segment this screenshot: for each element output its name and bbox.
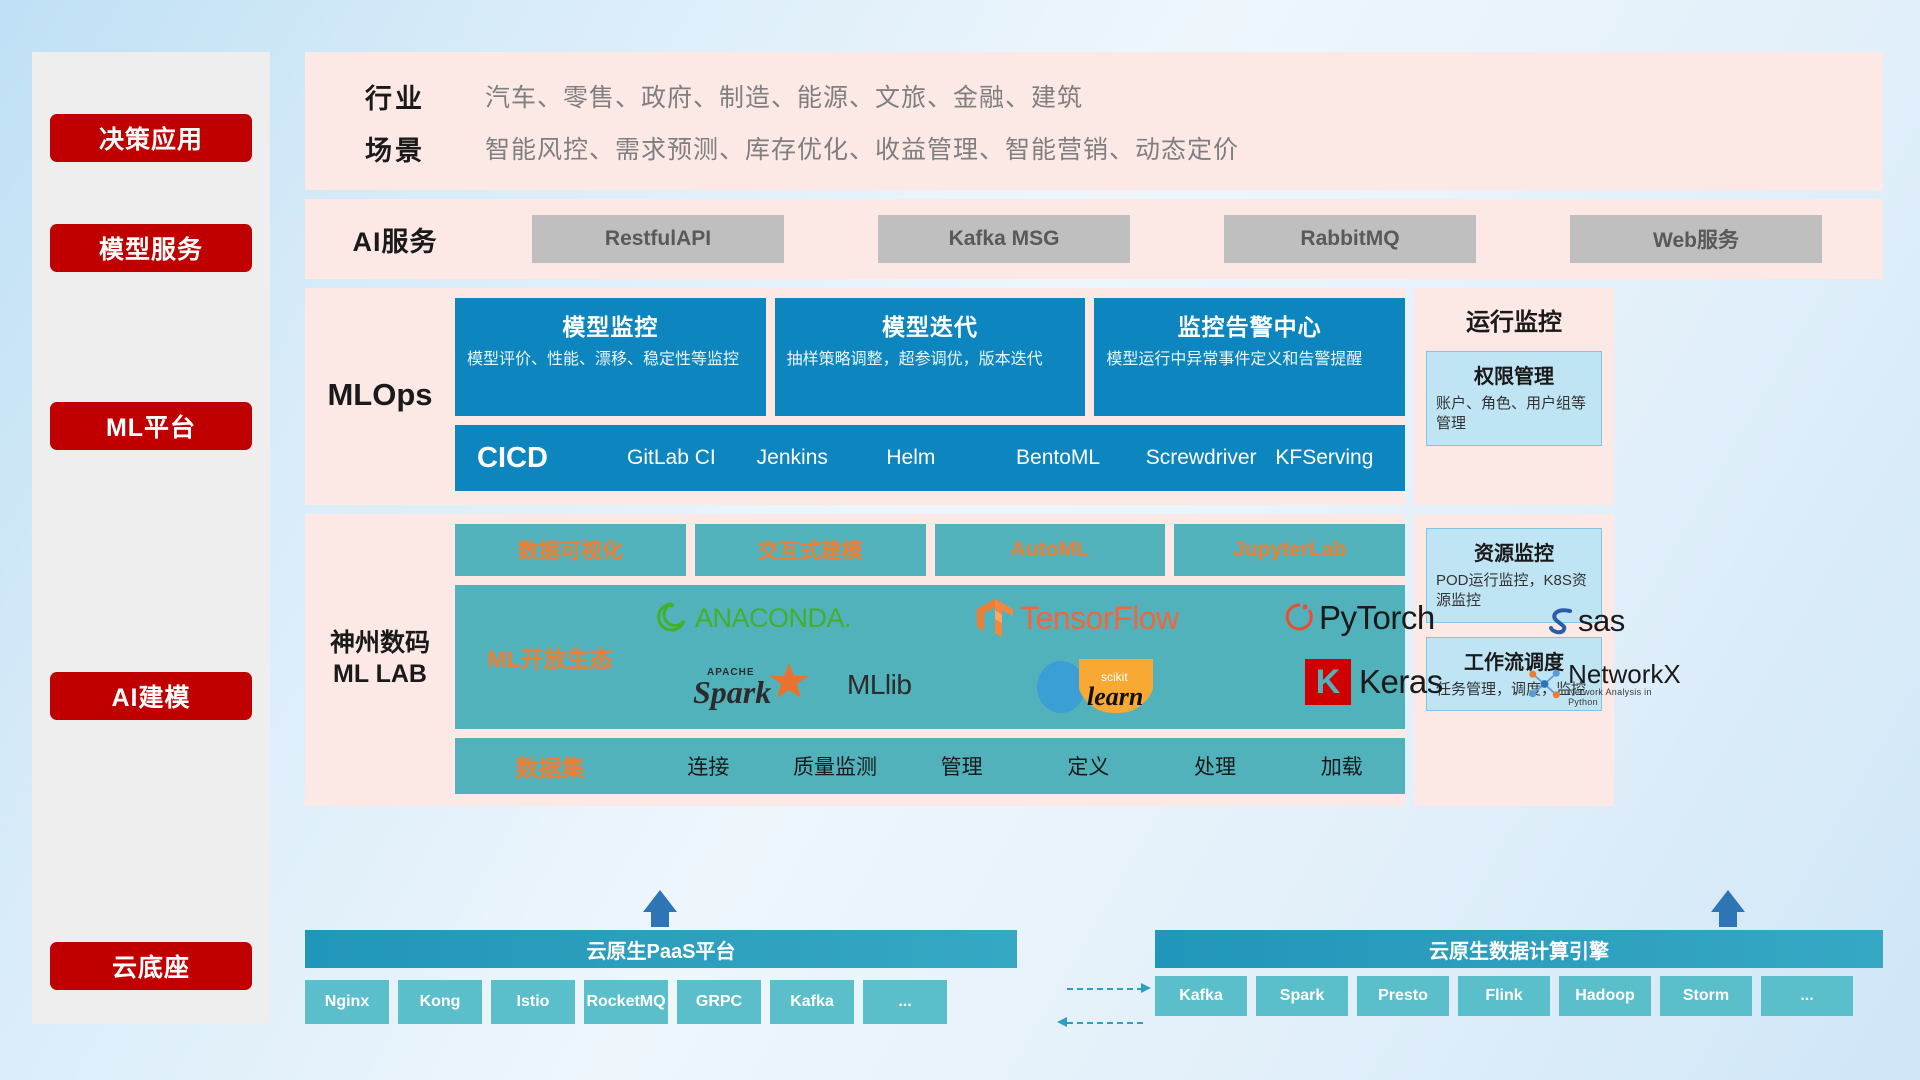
svg-text:Spark: Spark: [693, 674, 771, 710]
modeling-label: 神州数码 ML LAB: [305, 524, 455, 794]
scenario-key: 场景: [305, 129, 485, 168]
industry-key: 行业: [305, 77, 485, 116]
sas-logo: sas: [1545, 603, 1625, 639]
networkx-wordmark: NetworkX: [1568, 661, 1682, 687]
tool-interactive-modeling[interactable]: 交互式建模: [695, 524, 926, 576]
keras-k-glyph: K: [1316, 663, 1341, 702]
cicd-item-gitlab-ci[interactable]: GitLab CI: [627, 446, 757, 470]
card-desc: 账户、角色、用户组等管理: [1436, 394, 1592, 435]
rail-label: AI建模: [111, 678, 190, 714]
cicd-item-bentoml[interactable]: BentoML: [1016, 446, 1146, 470]
keras-wordmark: Keras: [1359, 663, 1443, 701]
networkx-tagline: Network Analysis in Python: [1568, 687, 1682, 707]
rail-item-cloud-foundation[interactable]: 云底座: [50, 942, 252, 990]
chip-kafka[interactable]: Kafka: [770, 980, 854, 1024]
compute-chip-row: Kafka Spark Presto Flink Hadoop Storm ..…: [1155, 976, 1853, 1016]
industry-value: 汽车、零售、政府、制造、能源、文旅、金融、建筑: [485, 78, 1083, 114]
mlops-card-model-monitoring[interactable]: 模型监控 模型评价、性能、漂移、稳定性等监控: [455, 298, 766, 416]
svg-text:learn: learn: [1087, 682, 1143, 711]
chip-kafka-compute[interactable]: Kafka: [1155, 976, 1247, 1016]
cicd-item-list: GitLab CI Jenkins Helm BentoML Screwdriv…: [627, 446, 1405, 470]
card-desc: 抽样策略调整，超参调优，版本迭代: [787, 349, 1074, 371]
card-title: 资源监控: [1436, 537, 1592, 566]
modeling-content: 数据可视化 交互式建模 AutoML JupyterLab ML开放生态: [455, 524, 1405, 794]
main-stack: 行业 汽车、零售、政府、制造、能源、文旅、金融、建筑 场景 智能风控、需求预测、…: [305, 52, 1883, 806]
dataset-label: 数据集: [455, 749, 645, 783]
dataset-item-management[interactable]: 管理: [898, 751, 1025, 781]
dataset-item-list: 连接 质量监测 管理 定义 处理 加载: [645, 751, 1405, 781]
paas-arrow-icon: [643, 890, 677, 912]
paas-chip-row: Nginx Kong Istio RocketMQ GRPC Kafka ...: [305, 980, 947, 1024]
rail-item-decision-app[interactable]: 决策应用: [50, 114, 252, 162]
keras-logo: K Keras: [1305, 659, 1443, 705]
connector-line-bottom: [1067, 1022, 1143, 1024]
card-title: 模型迭代: [787, 308, 1074, 342]
chip-spark[interactable]: Spark: [1256, 976, 1348, 1016]
chip-nginx[interactable]: Nginx: [305, 980, 389, 1024]
chip-grpc[interactable]: GRPC: [677, 980, 761, 1024]
dataset-item-connect[interactable]: 连接: [645, 751, 772, 781]
ml-ecosystem-label: ML开放生态: [455, 640, 645, 674]
mlops-panel: MLOps 模型监控 模型评价、性能、漂移、稳定性等监控 模型迭代 抽样策略调整…: [305, 288, 1405, 505]
ai-service-boxes: RestfulAPI Kafka MSG RabbitMQ Web服务: [485, 215, 1883, 263]
mllib-wordmark: MLlib: [847, 669, 911, 701]
chip-istio[interactable]: Istio: [491, 980, 575, 1024]
tensorflow-icon: [975, 597, 1015, 639]
ai-service-label: AI服务: [305, 220, 485, 259]
chip-hadoop[interactable]: Hadoop: [1559, 976, 1651, 1016]
modeling-label-line1: 神州数码: [330, 628, 430, 659]
mlops-card-list: 模型监控 模型评价、性能、漂移、稳定性等监控 模型迭代 抽样策略调整，超参调优，…: [455, 298, 1405, 416]
mlops-content: 模型监控 模型评价、性能、漂移、稳定性等监控 模型迭代 抽样策略调整，超参调优，…: [455, 298, 1405, 491]
mlops-card-model-iteration[interactable]: 模型迭代 抽样策略调整，超参调优，版本迭代: [775, 298, 1086, 416]
decision-app-band: 行业 汽车、零售、政府、制造、能源、文旅、金融、建筑 场景 智能风控、需求预测、…: [305, 52, 1883, 190]
keras-icon: K: [1305, 659, 1351, 705]
scenario-value: 智能风控、需求预测、库存优化、收益管理、智能营销、动态定价: [485, 130, 1239, 166]
ml-ecosystem-logos: ANACONDA. TensorFlow: [645, 585, 1405, 729]
rail-label: 决策应用: [99, 120, 203, 156]
ai-service-band: AI服务 RestfulAPI Kafka MSG RabbitMQ Web服务: [305, 199, 1883, 279]
rail-item-ml-platform[interactable]: ML平台: [50, 402, 252, 450]
rail-label: 云底座: [112, 948, 190, 984]
networkx-icon: [1525, 664, 1564, 704]
ml-ecosystem-row: ML开放生态 ANACONDA.: [455, 585, 1405, 729]
pytorch-logo: PyTorch: [1285, 599, 1435, 637]
ml-platform-band: MLOps 模型监控 模型评价、性能、漂移、稳定性等监控 模型迭代 抽样策略调整…: [305, 288, 1883, 505]
pytorch-wordmark: PyTorch: [1319, 599, 1435, 637]
dataset-item-quality-monitoring[interactable]: 质量监测: [772, 751, 899, 781]
paas-arrow-stem: [651, 911, 669, 927]
cicd-bar: CICD GitLab CI Jenkins Helm BentoML Scre…: [455, 425, 1405, 491]
chip-presto[interactable]: Presto: [1357, 976, 1449, 1016]
networkx-logo: NetworkX Network Analysis in Python: [1525, 661, 1682, 707]
chip-more-paas[interactable]: ...: [863, 980, 947, 1024]
chip-kong[interactable]: Kong: [398, 980, 482, 1024]
chip-more-compute[interactable]: ...: [1761, 976, 1853, 1016]
modeling-label-line2: ML LAB: [330, 659, 430, 690]
spark-mllib-logo: APACHE Spark MLlib: [693, 659, 911, 711]
layer-rail: 决策应用 模型服务 ML平台 AI建模 云底座: [32, 52, 270, 1024]
sas-wordmark: sas: [1578, 603, 1625, 639]
card-title: 模型监控: [467, 308, 754, 342]
connector-arrow-right: [1141, 983, 1151, 993]
modeling-tool-row: 数据可视化 交互式建模 AutoML JupyterLab: [455, 524, 1405, 576]
chip-rocketmq[interactable]: RocketMQ: [584, 980, 668, 1024]
sas-icon: [1545, 606, 1577, 636]
connector-arrow-left: [1057, 1017, 1067, 1027]
modeling-panel: 神州数码 ML LAB 数据可视化 交互式建模 AutoML JupyterLa…: [305, 514, 1405, 806]
scikit-learn-icon: scikit learn: [1035, 657, 1195, 715]
compute-bar[interactable]: 云原生数据计算引擎: [1155, 930, 1883, 968]
tool-data-visualization[interactable]: 数据可视化: [455, 524, 686, 576]
cicd-item-screwdriver[interactable]: Screwdriver: [1146, 446, 1276, 470]
tool-jupyterlab[interactable]: JupyterLab: [1174, 524, 1405, 576]
card-desc: 模型评价、性能、漂移、稳定性等监控: [467, 349, 754, 371]
industry-row: 行业 汽车、零售、政府、制造、能源、文旅、金融、建筑: [305, 70, 1883, 122]
ai-service-restfulapi[interactable]: RestfulAPI: [532, 215, 784, 263]
connector-line-top: [1067, 988, 1143, 990]
tool-automl[interactable]: AutoML: [935, 524, 1166, 576]
mlops-card-alert-center[interactable]: 监控告警中心 模型运行中异常事件定义和告警提醒: [1094, 298, 1405, 416]
monitoring-title: 运行监控: [1466, 302, 1562, 337]
dataset-item-loading[interactable]: 加载: [1278, 751, 1405, 781]
cicd-item-jenkins[interactable]: Jenkins: [757, 446, 887, 470]
anaconda-icon: [655, 601, 689, 635]
scenario-row: 场景 智能风控、需求预测、库存优化、收益管理、智能营销、动态定价: [305, 122, 1883, 174]
rail-item-model-service[interactable]: 模型服务: [50, 224, 252, 272]
mlops-label: MLOps: [305, 298, 455, 491]
paas-bar[interactable]: 云原生PaaS平台: [305, 930, 1017, 968]
compute-arrow-stem: [1719, 911, 1737, 927]
tensorflow-wordmark: TensorFlow: [1020, 600, 1179, 637]
chip-storm[interactable]: Storm: [1660, 976, 1752, 1016]
cloud-foundation-layer: 云原生PaaS平台 云原生数据计算引擎 Nginx Kong Istio Roc…: [305, 890, 1883, 1030]
cicd-title: CICD: [477, 442, 627, 475]
compute-arrow-icon: [1711, 890, 1745, 912]
chip-flink[interactable]: Flink: [1458, 976, 1550, 1016]
card-title: 监控告警中心: [1106, 308, 1393, 342]
spark-icon: APACHE Spark: [693, 659, 843, 711]
diagram-canvas: 决策应用 模型服务 ML平台 AI建模 云底座 行业 汽车、零售、政府、制造、能…: [0, 0, 1920, 1080]
monitoring-panel: 运行监控 权限管理 账户、角色、用户组等管理: [1414, 288, 1614, 505]
card-title: 权限管理: [1436, 360, 1592, 389]
rail-label: ML平台: [106, 408, 196, 444]
cicd-item-helm[interactable]: Helm: [886, 446, 1016, 470]
card-desc: 模型运行中异常事件定义和告警提醒: [1106, 349, 1393, 371]
rail-item-ai-modeling[interactable]: AI建模: [50, 672, 252, 720]
ai-modeling-band: 神州数码 ML LAB 数据可视化 交互式建模 AutoML JupyterLa…: [305, 514, 1883, 806]
cicd-item-kfserving[interactable]: KFServing: [1275, 446, 1405, 470]
monitoring-card-permission[interactable]: 权限管理 账户、角色、用户组等管理: [1426, 351, 1602, 446]
pytorch-icon: [1285, 600, 1315, 636]
ai-service-kafka-msg[interactable]: Kafka MSG: [878, 215, 1130, 263]
ai-service-rabbitmq[interactable]: RabbitMQ: [1224, 215, 1476, 263]
anaconda-logo: ANACONDA.: [655, 601, 851, 635]
tensorflow-logo: TensorFlow: [975, 597, 1179, 639]
dataset-row: 数据集 连接 质量监测 管理 定义 处理 加载: [455, 738, 1405, 794]
anaconda-wordmark: ANACONDA.: [695, 603, 851, 634]
rail-label: 模型服务: [99, 230, 203, 266]
dataset-item-definition[interactable]: 定义: [1025, 751, 1152, 781]
dataset-item-processing[interactable]: 处理: [1152, 751, 1279, 781]
ai-service-web[interactable]: Web服务: [1570, 215, 1822, 263]
scikit-learn-logo: scikit learn: [1035, 657, 1195, 715]
